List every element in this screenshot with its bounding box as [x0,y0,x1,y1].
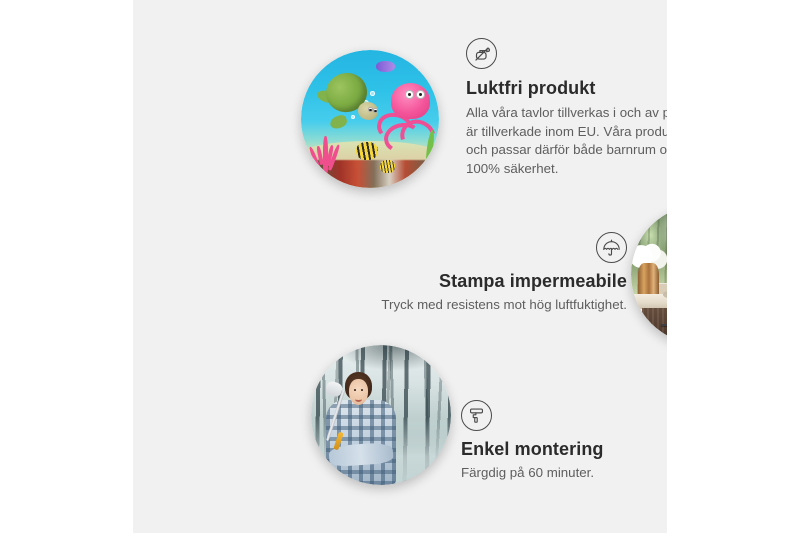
product-image-painter [311,345,451,485]
paint-roller-icon [461,400,492,431]
product-image-ocean [301,50,439,188]
smile [355,396,363,402]
feature-description: Färgdig på 60 minuter. [461,464,667,483]
eye [354,389,356,391]
coral-icon [309,133,345,174]
face [349,379,368,404]
bathroom-scene [631,205,667,344]
umbrella-icon [596,232,627,263]
ocean-scene [301,50,439,188]
feature-description: Alla våra tavlor tillverkas i och av pro… [466,104,667,178]
product-image-bathroom [631,205,667,344]
drawer-handle [661,324,667,326]
octopus-eye [416,90,425,99]
eye [361,389,363,391]
octopus-eye [405,90,414,99]
turtle-icon [319,69,380,124]
painter-scene [311,345,451,485]
feature-title: Luktfri produkt [466,78,667,99]
vanity-cabinet [642,308,667,344]
woman-figure [325,370,398,485]
feature-assembly: Enkel montering Färgdig på 60 minuter. [461,400,667,483]
bubble-icon [418,67,423,72]
feature-title: Enkel montering [461,439,667,460]
octopus-head [391,83,430,119]
feature-title: Stampa impermeabile [349,271,627,292]
feature-odourless: Luktfri produkt Alla våra tavlor tillver… [466,38,667,178]
fish-icon [380,160,395,172]
fish-icon [376,61,395,72]
feature-waterproof: Stampa impermeabile Tryck med resistens … [349,232,627,315]
no-fragrance-icon [466,38,497,69]
feature-description: Tryck med resistens mot hög luftfuktighe… [349,296,627,315]
feature-panel: Luktfri produkt Alla våra tavlor tillver… [133,0,667,533]
promo-graphic: Luktfri produkt Alla våra tavlor tillver… [0,0,800,533]
